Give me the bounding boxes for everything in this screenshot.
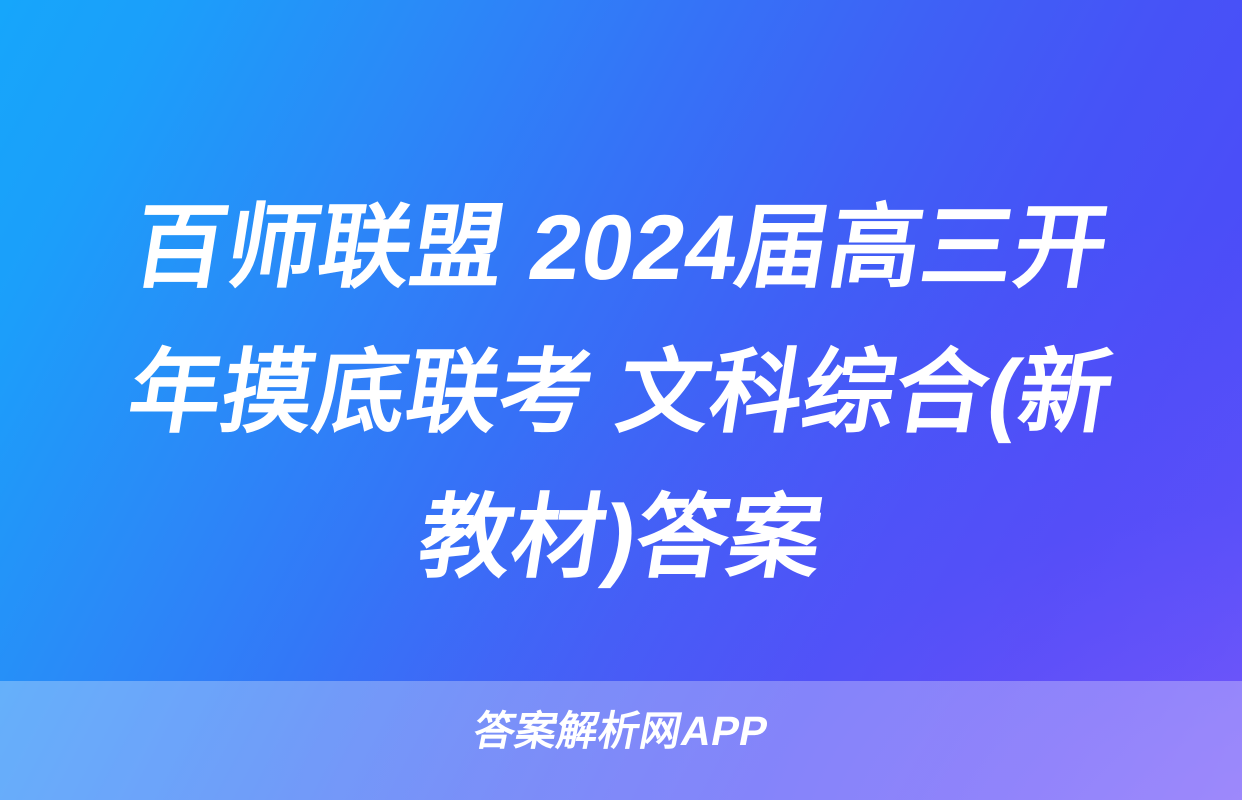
title-line-2: 年摸底联考 文科综合(新 (63, 321, 1180, 466)
title-line-3: 教材)答案 (63, 466, 1180, 611)
title-line-1: 百师联盟 2024届高三开 (63, 176, 1180, 321)
poster-canvas: 百师联盟 2024届高三开 年摸底联考 文科综合(新 教材)答案 答案解析网AP… (0, 0, 1242, 800)
poster-title: 百师联盟 2024届高三开 年摸底联考 文科综合(新 教材)答案 (0, 176, 1242, 611)
app-watermark: 答案解析网APP (0, 705, 1242, 757)
